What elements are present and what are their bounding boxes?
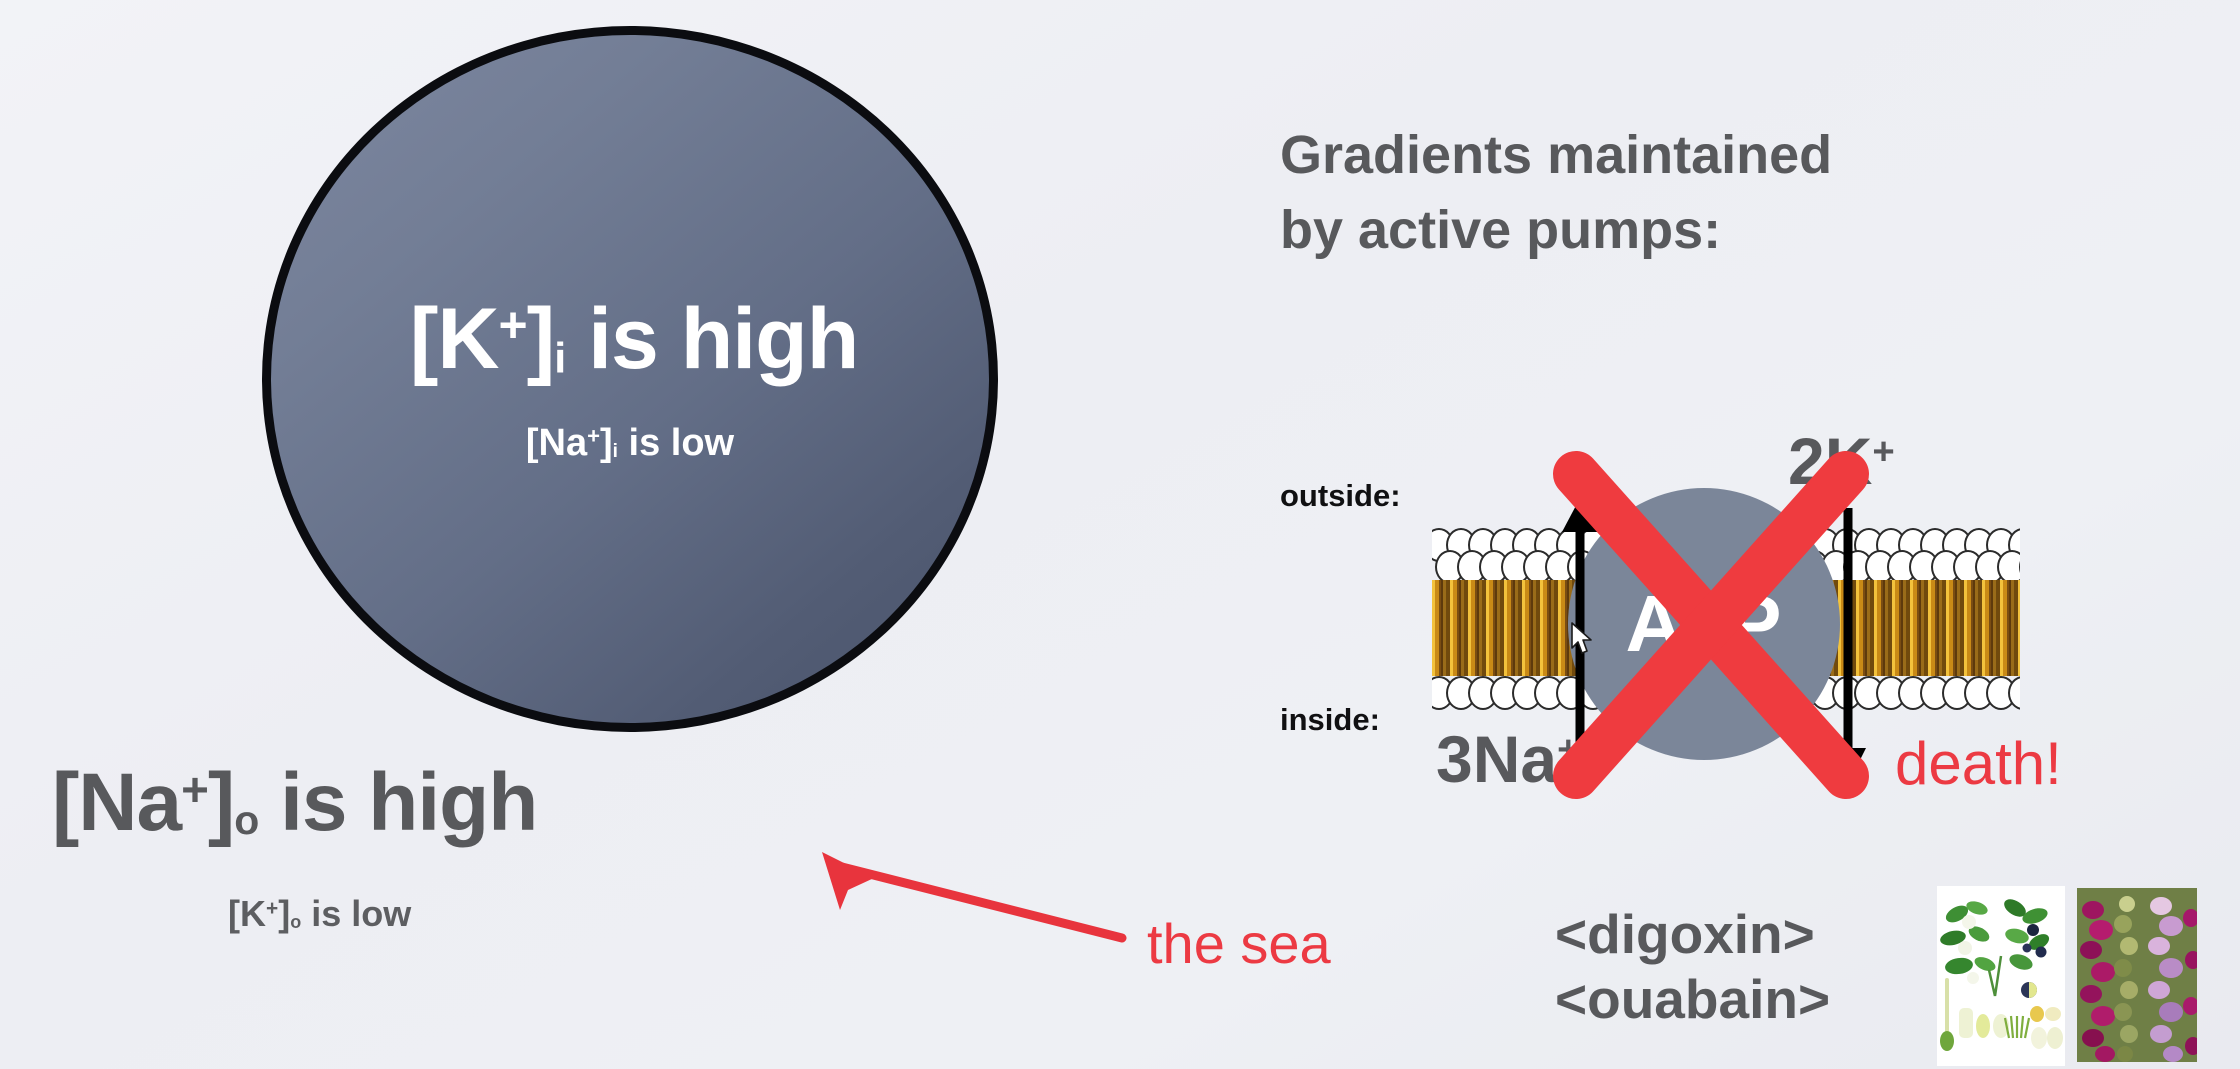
page-title: Gradients maintained by active pumps:	[1280, 118, 2100, 267]
heading-line-1: Gradients maintained	[1280, 118, 2100, 193]
the-sea-annotation: the sea	[1147, 916, 1331, 972]
drug-list: <digoxin> <ouabain>	[1555, 902, 1830, 1032]
foxglove-digitalis-photo	[2077, 888, 2197, 1062]
phospholipid-head	[1997, 550, 2020, 584]
drug-ouabain: <ouabain>	[1555, 967, 1830, 1032]
cell-circle	[262, 26, 998, 732]
drug-digoxin: <digoxin>	[1555, 902, 1830, 967]
inside-label: inside:	[1280, 702, 1380, 738]
botanical-illustration-strophanthus	[1937, 886, 2065, 1066]
extracellular-sodium-label: [Na+]o is high	[52, 762, 537, 844]
slide-canvas: [K+]i is high [Na+]i is low [Na+]o is hi…	[0, 0, 2240, 1069]
hand-drawn-arrow-icon	[800, 838, 1130, 948]
heading-line-2: by active pumps:	[1280, 193, 2100, 268]
extracellular-potassium-label: [K+]o is low	[228, 896, 411, 932]
death-annotation: death!	[1895, 734, 2062, 794]
outside-label: outside:	[1280, 478, 1401, 514]
mouse-pointer-icon	[1570, 622, 1596, 656]
red-cross-out-icon	[1550, 450, 1870, 800]
